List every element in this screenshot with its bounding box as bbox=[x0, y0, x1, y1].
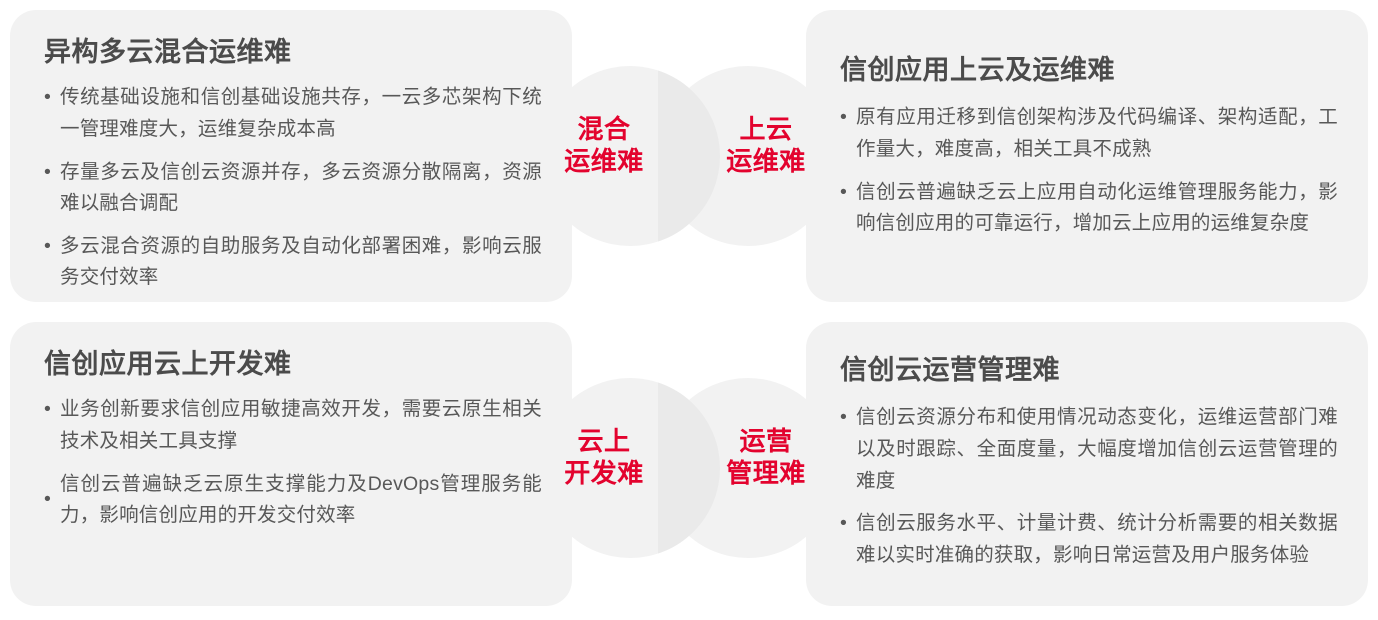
list-item-text: 信创云普遍缺乏云上应用自动化运维管理服务能力，影响信创应用的可靠运行，增加云上应… bbox=[856, 177, 1338, 240]
list-item-text: 信创云普遍缺乏云原生支撑能力及DevOps管理服务能力，影响信创应用的开发交付效… bbox=[60, 469, 542, 532]
list-item-text: 原有应用迁移到信创架构涉及代码编译、架构适配，工作量大，难度高，相关工具不成熟 bbox=[856, 102, 1338, 165]
list-item-text: 信创云服务水平、计量计费、统计分析需要的相关数据难以实时准确的获取，影响日常运营… bbox=[856, 508, 1338, 571]
bullet-marker-icon: • bbox=[44, 157, 60, 189]
list-item-text: 多云混合资源的自助服务及自动化部署困难，影响云服务交付效率 bbox=[60, 231, 542, 294]
panel-top-right-bullet-list: • 原有应用迁移到信创架构涉及代码编译、架构适配，工作量大，难度高，相关工具不成… bbox=[840, 102, 1338, 239]
venn-label-line-2: 管理难 bbox=[696, 458, 836, 490]
venn-label-line-1: 云上 bbox=[534, 426, 674, 458]
list-item: • 业务创新要求信创应用敏捷高效开发，需要云原生相关技术及相关工具支撑 bbox=[44, 394, 542, 457]
list-item: • 存量多云及信创云资源并存，多云资源分散隔离，资源难以融合调配 bbox=[44, 157, 542, 220]
list-item: • 信创云普遍缺乏云上应用自动化运维管理服务能力，影响信创应用的可靠运行，增加云… bbox=[840, 177, 1338, 240]
venn-label-line-1: 运营 bbox=[696, 426, 836, 458]
venn-label-bottom-left: 云上 开发难 bbox=[534, 426, 674, 489]
list-item-text: 传统基础设施和信创基础设施共存，一云多芯架构下统一管理难度大，运维复杂成本高 bbox=[60, 82, 542, 145]
bullet-marker-icon: • bbox=[44, 231, 60, 263]
venn-label-line-2: 开发难 bbox=[534, 458, 674, 490]
panel-bottom-right-title: 信创云运营管理难 bbox=[840, 354, 1338, 386]
venn-label-line-2: 运维难 bbox=[696, 146, 836, 178]
bullet-marker-icon: • bbox=[44, 394, 60, 426]
list-item-text: 业务创新要求信创应用敏捷高效开发，需要云原生相关技术及相关工具支撑 bbox=[60, 394, 542, 457]
panel-bottom-right: 信创云运营管理难 • 信创云资源分布和使用情况动态变化，运维运营部门难以及时跟踪… bbox=[806, 322, 1368, 606]
panel-bottom-left-bullet-list: • 业务创新要求信创应用敏捷高效开发，需要云原生相关技术及相关工具支撑 • 信创… bbox=[44, 394, 542, 531]
panel-top-right-title: 信创应用上云及运维难 bbox=[840, 54, 1338, 86]
venn-diagram-bottom: 云上 开发难 运营 管理难 bbox=[540, 368, 830, 568]
list-item: • 信创云普遍缺乏云原生支撑能力及DevOps管理服务能力，影响信创应用的开发交… bbox=[44, 469, 542, 532]
panel-top-right: 信创应用上云及运维难 • 原有应用迁移到信创架构涉及代码编译、架构适配，工作量大… bbox=[806, 10, 1368, 302]
list-item: • 原有应用迁移到信创架构涉及代码编译、架构适配，工作量大，难度高，相关工具不成… bbox=[840, 102, 1338, 165]
venn-label-line-2: 运维难 bbox=[534, 146, 674, 178]
bullet-marker-icon: • bbox=[840, 508, 856, 540]
bullet-marker-icon: • bbox=[44, 484, 60, 516]
panel-top-left-bullet-list: • 传统基础设施和信创基础设施共存，一云多芯架构下统一管理难度大，运维复杂成本高… bbox=[44, 82, 542, 293]
venn-label-top-left: 混合 运维难 bbox=[534, 114, 674, 177]
venn-label-bottom-right: 运营 管理难 bbox=[696, 426, 836, 489]
list-item-text: 存量多云及信创云资源并存，多云资源分散隔离，资源难以融合调配 bbox=[60, 157, 542, 220]
venn-diagram-top: 混合 运维难 上云 运维难 bbox=[540, 56, 830, 256]
list-item: • 多云混合资源的自助服务及自动化部署困难，影响云服务交付效率 bbox=[44, 231, 542, 294]
bullet-marker-icon: • bbox=[840, 402, 856, 434]
list-item: • 信创云服务水平、计量计费、统计分析需要的相关数据难以实时准确的获取，影响日常… bbox=[840, 508, 1338, 571]
bullet-marker-icon: • bbox=[840, 102, 856, 134]
venn-label-line-1: 混合 bbox=[534, 114, 674, 146]
list-item: • 信创云资源分布和使用情况动态变化，运维运营部门难以及时跟踪、全面度量，大幅度… bbox=[840, 402, 1338, 497]
bullet-marker-icon: • bbox=[840, 177, 856, 209]
diagram-canvas: 异构多云混合运维难 • 传统基础设施和信创基础设施共存，一云多芯架构下统一管理难… bbox=[0, 0, 1378, 620]
panel-bottom-left: 信创应用云上开发难 • 业务创新要求信创应用敏捷高效开发，需要云原生相关技术及相… bbox=[10, 322, 572, 606]
list-item-text: 信创云资源分布和使用情况动态变化，运维运营部门难以及时跟踪、全面度量，大幅度增加… bbox=[856, 402, 1338, 497]
bullet-marker-icon: • bbox=[44, 82, 60, 114]
venn-label-top-right: 上云 运维难 bbox=[696, 114, 836, 177]
venn-label-line-1: 上云 bbox=[696, 114, 836, 146]
panel-top-left: 异构多云混合运维难 • 传统基础设施和信创基础设施共存，一云多芯架构下统一管理难… bbox=[10, 10, 572, 302]
panel-top-left-title: 异构多云混合运维难 bbox=[44, 36, 542, 68]
panel-bottom-right-bullet-list: • 信创云资源分布和使用情况动态变化，运维运营部门难以及时跟踪、全面度量，大幅度… bbox=[840, 402, 1338, 571]
list-item: • 传统基础设施和信创基础设施共存，一云多芯架构下统一管理难度大，运维复杂成本高 bbox=[44, 82, 542, 145]
panel-bottom-left-title: 信创应用云上开发难 bbox=[44, 348, 542, 380]
